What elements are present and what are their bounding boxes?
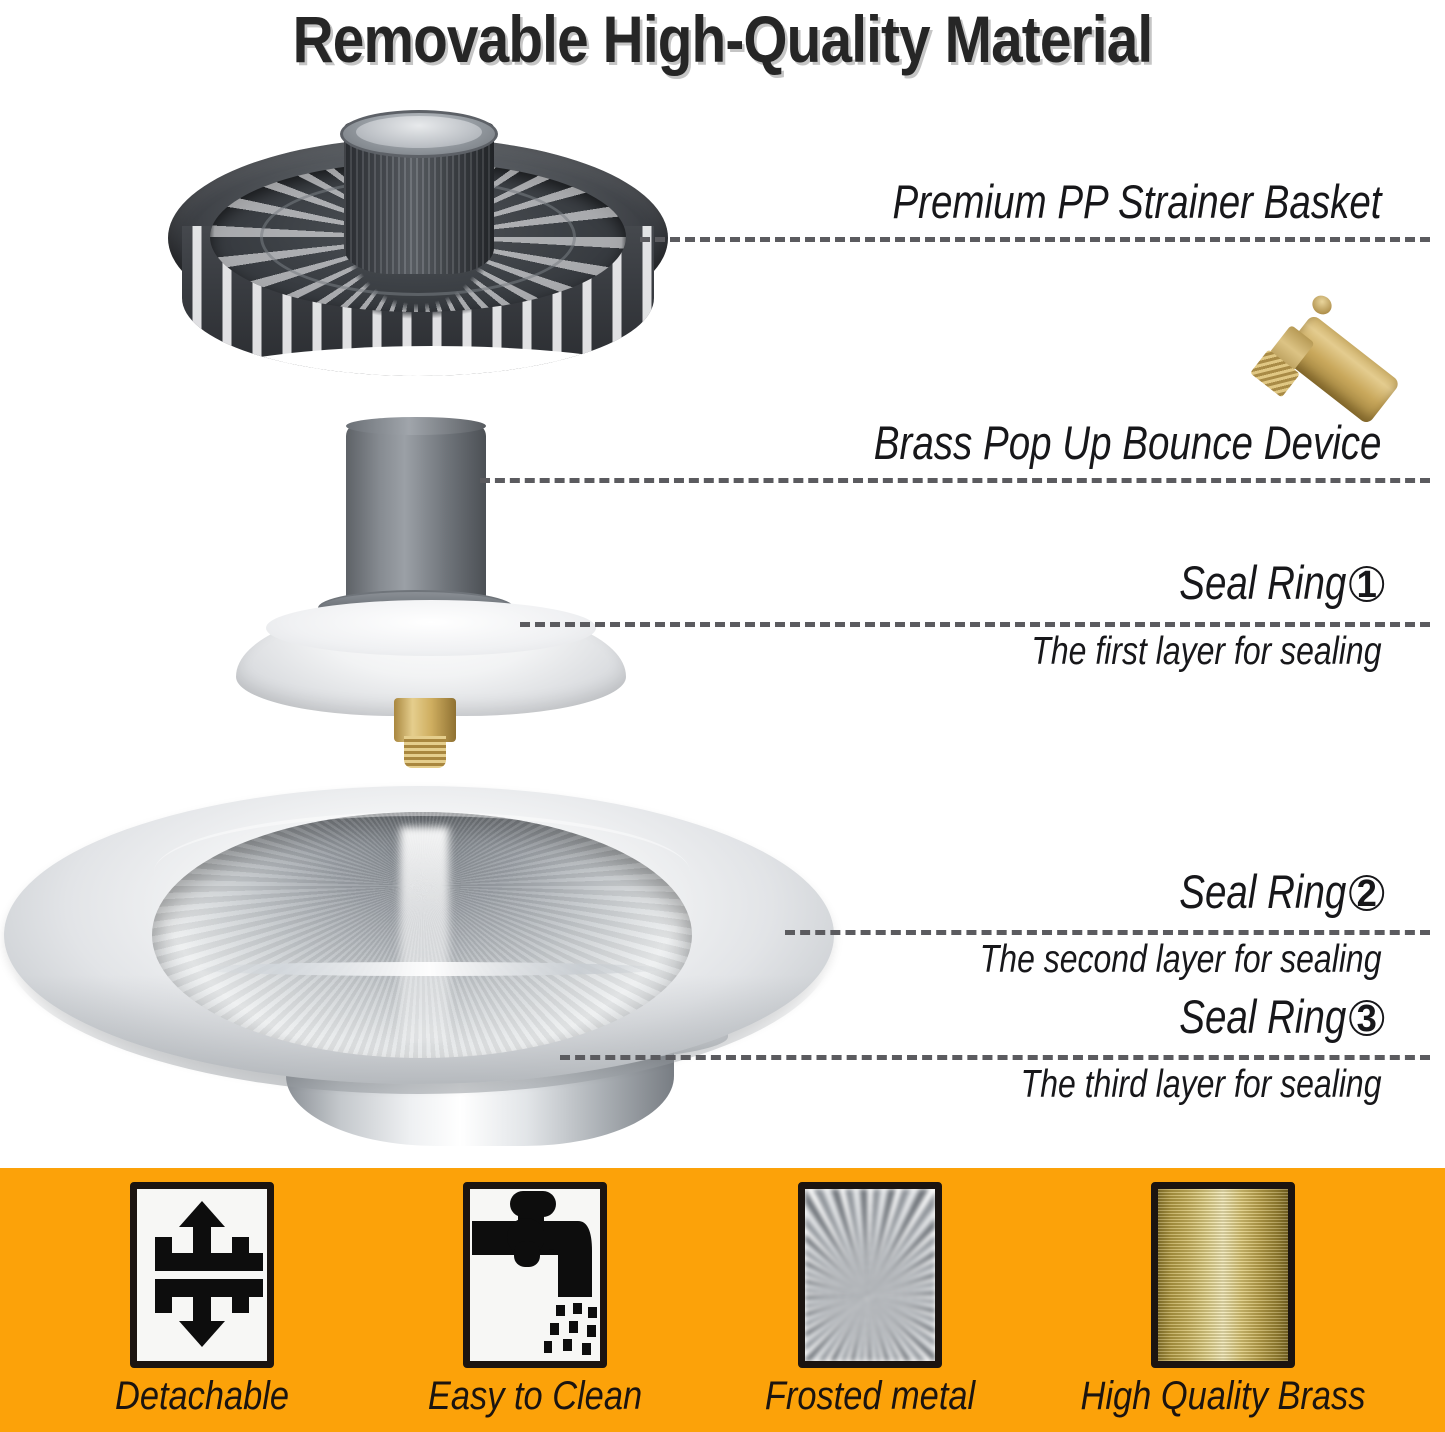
brushed-brass-swatch-icon [1151,1182,1295,1368]
leader-line-strainer-basket [640,237,1430,242]
separator-bar-top [155,1253,263,1271]
up-down-arrows-icon [130,1182,274,1368]
callout-strainer-basket: Premium PP Strainer Basket [849,176,1382,228]
page-title: Removable High-Quality Material [101,2,1344,76]
callout-seal-ring-3-label: Seal Ring [1179,990,1346,1043]
faucet-water-glyph [470,1189,600,1361]
arrow-down-icon [179,1321,225,1347]
seal-ring-3-number-badge: 3 [1349,1000,1384,1036]
faucet-water-icon [463,1182,607,1368]
callout-brass-pop-up-label: Brass Pop Up Bounce Device [874,416,1382,469]
callout-seal-ring-3-sub: The third layer for sealing [849,1063,1382,1107]
product-infographic: Removable High-Quality Material [0,0,1445,1432]
callout-seal-ring-1-sublabel: The first layer for sealing [1031,630,1381,673]
callout-seal-ring-2-sublabel: The second layer for sealing [980,938,1382,981]
feature-detachable-label: Detachable [47,1372,357,1420]
callout-seal-ring-2-label: Seal Ring [1179,865,1346,918]
seal-ring-1-number-badge: 1 [1349,566,1384,602]
gray-stem-top [346,417,486,435]
basket-cap-top-inner [356,116,482,148]
feature-detachable: Detachable [22,1168,382,1432]
arrow-up-icon [179,1201,225,1227]
feature-high-quality-brass: High Quality Brass [1043,1168,1403,1432]
seal-disc-top [266,600,596,656]
feature-easy-to-clean: Easy to Clean [355,1168,715,1432]
strainer-basket-photo [168,108,668,393]
bottom-bar-right-tab [232,1293,249,1313]
callout-seal-ring-2: Seal Ring2 [849,866,1382,918]
stainless-flange-photo [4,786,834,1158]
flange-seam [194,962,664,976]
feature-frosted-metal: Frosted metal [690,1168,1050,1432]
leader-line-seal-ring-3 [560,1055,1430,1060]
callout-strainer-basket-label: Premium PP Strainer Basket [892,175,1381,228]
seal-ring-2-number-badge: 2 [1349,875,1384,911]
callout-seal-ring-1: Seal Ring1 [849,557,1382,609]
feature-frosted-metal-label: Frosted metal [715,1372,1025,1420]
brushed-brass-texture [1158,1189,1288,1361]
brushed-steel-texture [805,1189,935,1361]
callout-brass-pop-up: Brass Pop Up Bounce Device [849,417,1382,469]
callout-seal-ring-1-label: Seal Ring [1179,556,1346,609]
brass-screw [1309,292,1336,318]
feature-high-quality-brass-label: High Quality Brass [1068,1372,1378,1420]
brushed-steel-swatch-icon [798,1182,942,1368]
feature-easy-to-clean-label: Easy to Clean [380,1372,690,1420]
brass-stud-thread [404,736,446,768]
leader-line-seal-ring-1 [520,622,1430,627]
arrow-up-shaft [193,1225,211,1253]
flange-bowl-lip [154,812,690,932]
callout-seal-ring-1-sub: The first layer for sealing [849,630,1382,674]
callout-seal-ring-3: Seal Ring3 [849,991,1382,1043]
gray-stem [346,424,486,606]
callout-seal-ring-2-sub: The second layer for sealing [849,938,1382,982]
leader-line-brass-pop-up [480,478,1430,483]
feature-bar: Detachable [0,1168,1445,1432]
leader-line-seal-ring-2 [785,930,1430,935]
gray-stem-white-seal-photo [236,424,626,772]
brass-fitting-photo [1252,286,1432,436]
callout-seal-ring-3-sublabel: The third layer for sealing [1021,1063,1382,1106]
bottom-bar-left-tab [155,1293,172,1313]
